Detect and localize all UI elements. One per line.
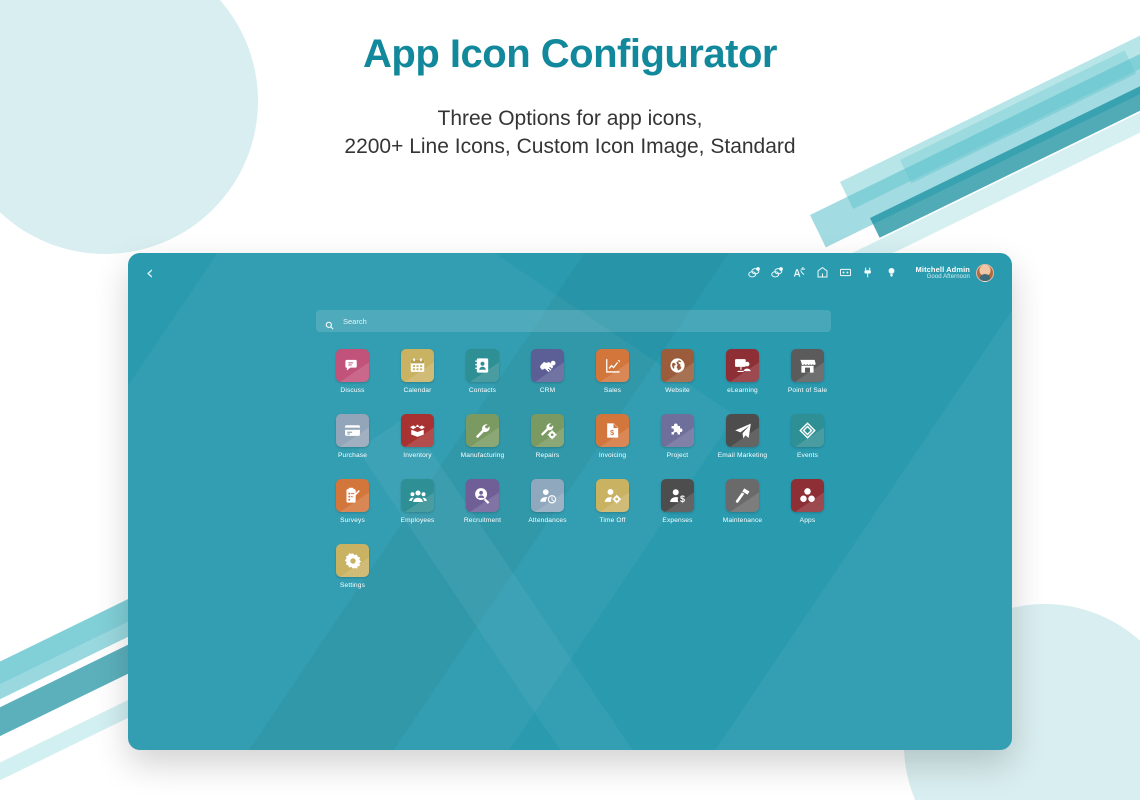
contact-card-icon[interactable] <box>466 349 499 382</box>
app-tile-discuss[interactable]: Discuss <box>320 349 385 394</box>
app-tile-employees[interactable]: Employees <box>385 479 450 524</box>
app-tile-purchase[interactable]: Purchase <box>320 414 385 459</box>
app-label: Contacts <box>469 387 496 394</box>
globe-icon[interactable] <box>661 349 694 382</box>
credit-card-icon[interactable] <box>336 414 369 447</box>
person-clock-icon[interactable] <box>531 479 564 512</box>
app-tile-settings[interactable]: Settings <box>320 544 385 589</box>
gear-icon[interactable] <box>336 544 369 577</box>
app-label: Calendar <box>404 387 432 394</box>
app-label: Email Marketing <box>718 452 768 459</box>
search-person-icon[interactable] <box>466 479 499 512</box>
search-input[interactable] <box>341 316 822 327</box>
app-label: Events <box>797 452 818 459</box>
translate-icon[interactable] <box>793 266 807 280</box>
app-label: Point of Sale <box>788 387 827 394</box>
invoice-dollar-icon[interactable]: $ <box>596 414 629 447</box>
app-window: ‹ <box>128 253 1012 750</box>
messages-icon[interactable] <box>747 266 761 280</box>
app-label: Recruitment <box>464 517 501 524</box>
app-label: Sales <box>604 387 621 394</box>
app-label: Inventory <box>403 452 431 459</box>
page-title: App Icon Configurator <box>0 32 1140 77</box>
svg-text:$: $ <box>679 494 684 504</box>
app-label: Employees <box>401 517 435 524</box>
app-label: Attendances <box>528 517 566 524</box>
puzzle-icon[interactable] <box>661 414 694 447</box>
calendar-icon[interactable] <box>401 349 434 382</box>
search-bar[interactable] <box>316 310 831 332</box>
people-group-icon[interactable] <box>401 479 434 512</box>
app-label: Repairs <box>536 452 560 459</box>
window-topbar: ‹ <box>128 253 1012 293</box>
app-label: Surveys <box>340 517 365 524</box>
search-icon <box>325 317 334 326</box>
app-tile-email-marketing[interactable]: Email Marketing <box>710 414 775 459</box>
app-label: Settings <box>340 582 365 589</box>
app-label: Manufacturing <box>461 452 505 459</box>
activities-icon[interactable] <box>770 266 784 280</box>
app-label: Discuss <box>340 387 364 394</box>
app-tile-maintenance[interactable]: Maintenance <box>710 479 775 524</box>
bulb-icon[interactable] <box>885 266 899 280</box>
apps-grid-icon[interactable] <box>839 266 853 280</box>
plug-icon[interactable] <box>862 266 876 280</box>
app-tile-sales[interactable]: Sales <box>580 349 645 394</box>
person-dollar-icon[interactable]: $ <box>661 479 694 512</box>
app-label: Maintenance <box>723 517 762 524</box>
person-gear-icon[interactable] <box>596 479 629 512</box>
app-tile-events[interactable]: Events <box>775 414 840 459</box>
app-label: Website <box>665 387 690 394</box>
app-tile-surveys[interactable]: Surveys <box>320 479 385 524</box>
app-tile-manufacturing[interactable]: Manufacturing <box>450 414 515 459</box>
app-tile-invoicing[interactable]: $Invoicing <box>580 414 645 459</box>
app-tile-website[interactable]: Website <box>645 349 710 394</box>
paper-plane-icon[interactable] <box>726 414 759 447</box>
app-tile-project[interactable]: Project <box>645 414 710 459</box>
systray: Mitchell Admin Good Afternoon <box>747 264 994 282</box>
app-tile-point-of-sale[interactable]: Point of Sale <box>775 349 840 394</box>
app-label: Apps <box>800 517 816 524</box>
company-icon[interactable] <box>816 266 830 280</box>
app-tile-contacts[interactable]: Contacts <box>450 349 515 394</box>
user-menu[interactable]: Mitchell Admin Good Afternoon <box>916 264 994 282</box>
app-tile-elearning[interactable]: eLearning <box>710 349 775 394</box>
presentation-icon[interactable] <box>726 349 759 382</box>
app-tile-expenses[interactable]: $Expenses <box>645 479 710 524</box>
wrench-icon[interactable] <box>466 414 499 447</box>
app-tile-repairs[interactable]: Repairs <box>515 414 580 459</box>
page-subtitle: Three Options for app icons, 2200+ Line … <box>0 105 1140 162</box>
ticket-icon[interactable] <box>791 414 824 447</box>
chat-bubbles-icon[interactable] <box>336 349 369 382</box>
page-subtitle-line-1: Three Options for app icons, <box>0 105 1140 133</box>
hammer-icon[interactable] <box>726 479 759 512</box>
svg-text:$: $ <box>610 429 614 437</box>
handshake-icon[interactable] <box>531 349 564 382</box>
app-label: CRM <box>540 387 555 394</box>
app-tile-inventory[interactable]: Inventory <box>385 414 450 459</box>
app-tile-attendances[interactable]: Attendances <box>515 479 580 524</box>
app-tile-calendar[interactable]: Calendar <box>385 349 450 394</box>
cubes-icon[interactable] <box>791 479 824 512</box>
app-label: Project <box>667 452 689 459</box>
wrench-gear-icon[interactable] <box>531 414 564 447</box>
app-label: Invoicing <box>599 452 626 459</box>
clipboard-pen-icon[interactable] <box>336 479 369 512</box>
app-tile-time-off[interactable]: Time Off <box>580 479 645 524</box>
app-label: Expenses <box>662 517 692 524</box>
app-tile-apps[interactable]: Apps <box>775 479 840 524</box>
avatar[interactable] <box>976 264 994 282</box>
page-subtitle-line-2: 2200+ Line Icons, Custom Icon Image, Sta… <box>0 133 1140 161</box>
back-button[interactable]: ‹ <box>146 264 154 283</box>
app-tile-recruitment[interactable]: Recruitment <box>450 479 515 524</box>
open-box-icon[interactable] <box>401 414 434 447</box>
chart-up-icon[interactable] <box>596 349 629 382</box>
user-text: Mitchell Admin Good Afternoon <box>916 266 970 281</box>
user-greeting: Good Afternoon <box>916 274 970 281</box>
user-name: Mitchell Admin <box>916 266 970 274</box>
app-label: Time Off <box>599 517 625 524</box>
app-tile-crm[interactable]: CRM <box>515 349 580 394</box>
app-grid: DiscussCalendarContactsCRMSalesWebsiteeL… <box>320 349 840 589</box>
app-label: eLearning <box>727 387 758 394</box>
storefront-icon[interactable] <box>791 349 824 382</box>
app-label: Purchase <box>338 452 367 459</box>
